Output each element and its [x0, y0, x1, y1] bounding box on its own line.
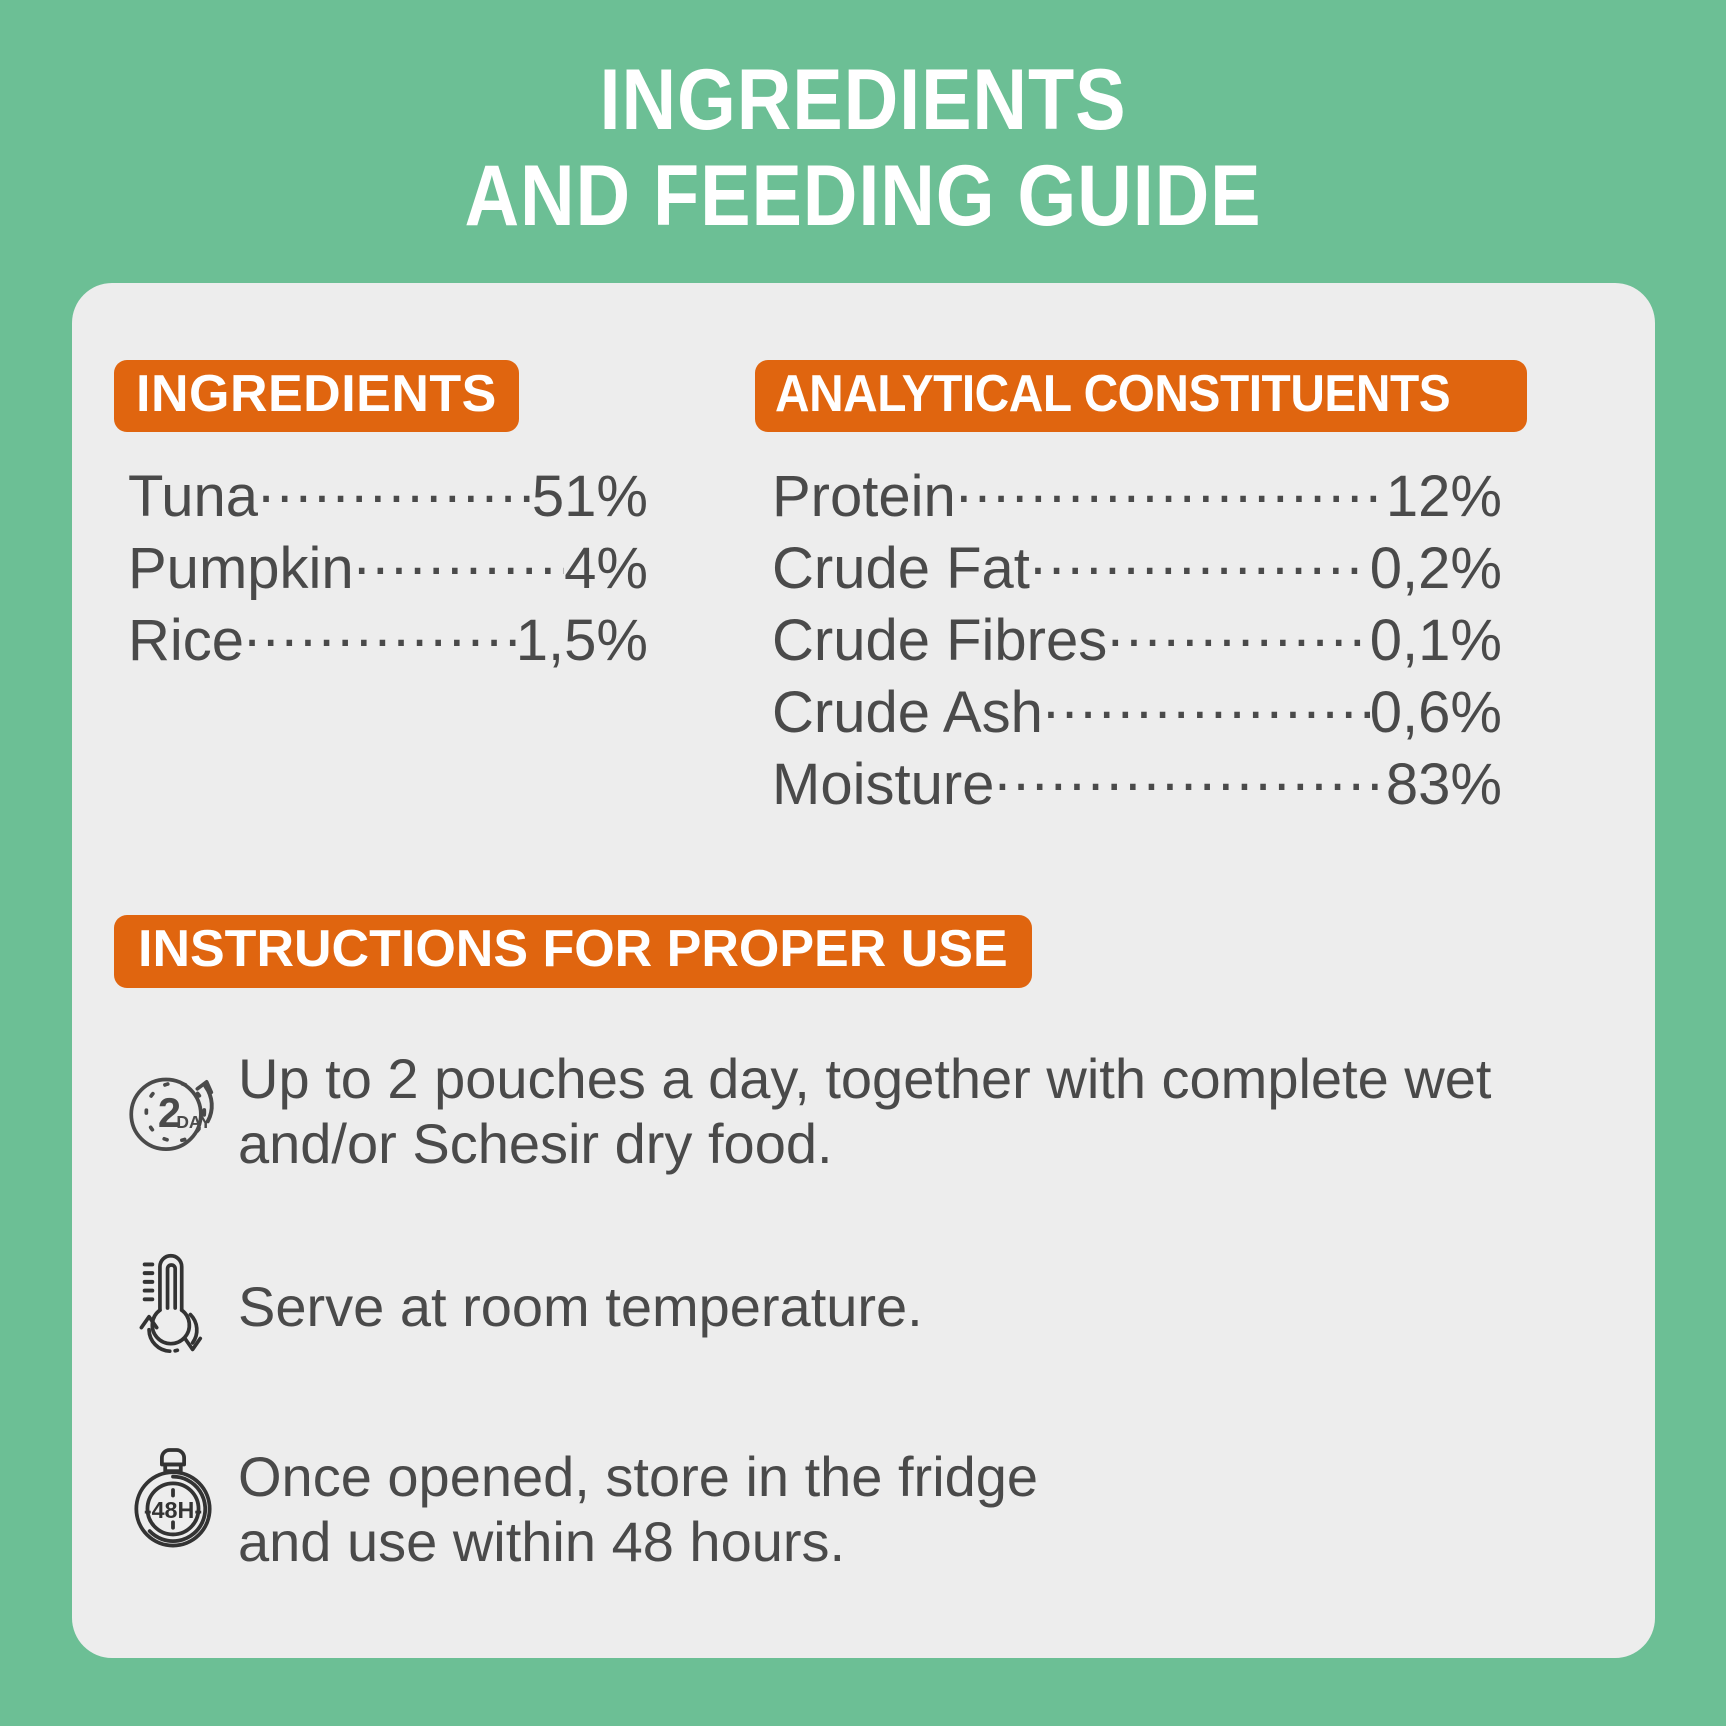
dot-leader	[1043, 674, 1370, 732]
analytical-row-value: 12%	[1386, 465, 1502, 530]
instructions-badge-label: INSTRUCTIONS FOR PROPER USE	[138, 920, 1008, 978]
dot-leader	[258, 458, 532, 516]
page-title: INGREDIENTS AND FEEDING GUIDE	[104, 52, 1623, 245]
ingredients-list: Tuna 51% Pumpkin 4% Rice 1,5%	[128, 458, 648, 674]
ingredients-badge-label: INGREDIENTS	[136, 365, 497, 423]
analytical-row-value: 0,6%	[1370, 681, 1502, 746]
analytical-row: Crude Fibres 0,1%	[772, 602, 1502, 674]
instruction-text: Up to 2 pouches a day, together with com…	[238, 1043, 1608, 1177]
analytical-row: Crude Ash 0,6%	[772, 674, 1502, 746]
analytical-row-label: Moisture	[772, 753, 994, 818]
ingredients-row: Tuna 51%	[128, 458, 648, 530]
instructions-list: 2 DAY Up to 2 pouches a day, together wi…	[108, 1043, 1608, 1641]
instruction-item: Serve at room temperature.	[108, 1243, 1608, 1373]
ingredients-row-label: Pumpkin	[128, 537, 354, 602]
analytical-constituents-badge-label: ANALYTICAL CONSTITUENTS	[775, 368, 1450, 420]
svg-text:-48H-: -48H-	[144, 1497, 202, 1523]
dot-leader	[354, 530, 565, 588]
thermometer-room-temperature-icon	[108, 1243, 238, 1373]
analytical-row-label: Crude Fat	[772, 537, 1030, 602]
dot-leader	[244, 602, 516, 660]
analytical-row-value: 0,2%	[1370, 537, 1502, 602]
analytical-row-value: 0,1%	[1370, 609, 1502, 674]
ingredients-row: Pumpkin 4%	[128, 530, 648, 602]
instruction-text: Serve at room temperature.	[238, 1243, 1608, 1340]
ingredients-badge: INGREDIENTS	[114, 360, 519, 432]
ingredients-row-value: 4%	[564, 537, 648, 602]
analytical-row: Moisture 83%	[772, 746, 1502, 818]
content-card: INGREDIENTS ANALYTICAL CONSTITUENTS Tuna…	[72, 283, 1655, 1658]
ingredients-row-label: Rice	[128, 609, 244, 674]
ingredients-row-label: Tuna	[128, 465, 258, 530]
two-per-day-clock-icon: 2 DAY	[108, 1047, 238, 1177]
dot-leader	[956, 458, 1386, 516]
ingredients-row: Rice 1,5%	[128, 602, 648, 674]
ingredients-row-value: 1,5%	[516, 609, 648, 674]
instruction-item: 2 DAY Up to 2 pouches a day, together wi…	[108, 1043, 1608, 1177]
analytical-row: Crude Fat 0,2%	[772, 530, 1502, 602]
instruction-text: Once opened, store in the fridge and use…	[238, 1435, 1608, 1575]
analytical-row: Protein 12%	[772, 458, 1502, 530]
analytical-row-value: 83%	[1386, 753, 1502, 818]
analytical-row-label: Crude Ash	[772, 681, 1043, 746]
dot-leader	[1107, 602, 1370, 660]
analytical-row-label: Crude Fibres	[772, 609, 1107, 674]
ingredients-row-value: 51%	[532, 465, 648, 530]
svg-text:DAY: DAY	[176, 1112, 212, 1132]
stopwatch-48h-icon: -48H-	[108, 1435, 238, 1565]
dot-leader	[994, 746, 1386, 804]
analytical-constituents-list: Protein 12% Crude Fat 0,2% Crude Fibres …	[772, 458, 1502, 818]
instructions-badge: INSTRUCTIONS FOR PROPER USE	[114, 915, 1032, 988]
dot-leader	[1030, 530, 1370, 588]
analytical-constituents-badge: ANALYTICAL CONSTITUENTS	[755, 360, 1527, 432]
instruction-item: -48H- Once opened, store in the fridge a…	[108, 1435, 1608, 1575]
analytical-row-label: Protein	[772, 465, 956, 530]
